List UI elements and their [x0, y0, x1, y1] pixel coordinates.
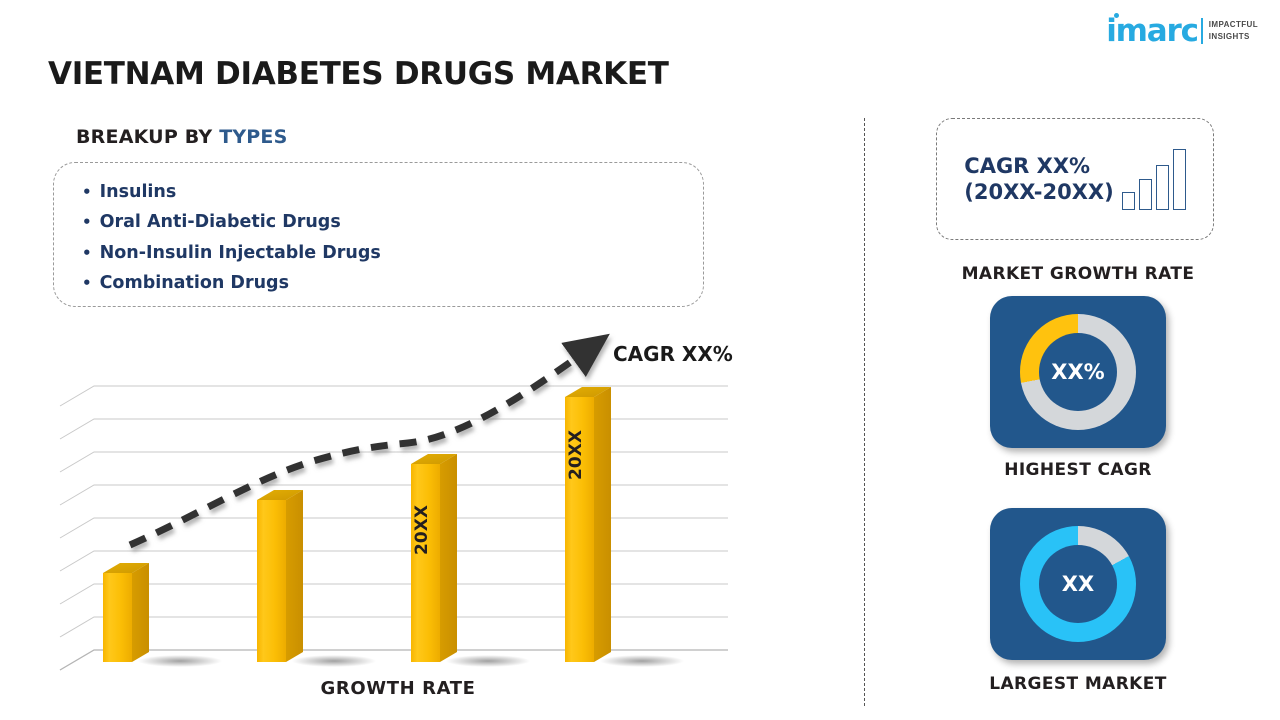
cagr-card-text: CAGR XX% (20XX-20XX): [964, 153, 1113, 206]
chart-bar: 20XX: [565, 387, 611, 662]
list-item: Oral Anti-Diabetic Drugs: [82, 207, 703, 237]
logo-dot-icon: [1114, 13, 1119, 18]
breakup-types-list: Insulins Oral Anti-Diabetic Drugs Non-In…: [54, 163, 703, 298]
logo-divider-bar: [1201, 18, 1203, 44]
slide-canvas: imarc IMPACTFUL INSIGHTS VIETNAM DIABETE…: [0, 0, 1280, 720]
largest-market-card: XX: [990, 508, 1166, 660]
largest-market-caption: LARGEST MARKET: [900, 674, 1256, 694]
chart-bar: [103, 563, 149, 662]
page-title: VIETNAM DIABETES DRUGS MARKET: [48, 56, 669, 92]
imarc-logo: imarc IMPACTFUL INSIGHTS: [1106, 14, 1258, 48]
highest-cagr-card: XX%: [990, 296, 1166, 448]
chart-x-axis-label: GROWTH RATE: [48, 678, 748, 699]
ascending-bars-icon-bar: [1122, 192, 1135, 210]
highest-cagr-donut-hole: XX%: [1039, 333, 1117, 411]
logo-word-text: imarc: [1106, 13, 1198, 49]
logo-tagline-line2: INSIGHTS: [1209, 31, 1258, 43]
largest-market-donut-hole: XX: [1039, 545, 1117, 623]
breakup-heading: BREAKUP BY TYPES: [76, 126, 288, 148]
chart-trend-line: [130, 351, 586, 545]
logo-wordmark: imarc: [1106, 16, 1198, 47]
breakup-types-box: Insulins Oral Anti-Diabetic Drugs Non-In…: [53, 162, 704, 307]
breakup-heading-accent: TYPES: [219, 126, 287, 148]
chart-bar-label: 20XX: [566, 430, 586, 480]
largest-market-donut: XX: [1020, 526, 1136, 642]
cagr-card-line2: (20XX-20XX): [964, 179, 1113, 205]
highest-cagr-caption: HIGHEST CAGR: [900, 460, 1256, 480]
highest-cagr-donut: XX%: [1020, 314, 1136, 430]
market-growth-rate-card: CAGR XX% (20XX-20XX): [936, 118, 1214, 240]
list-item: Combination Drugs: [82, 268, 703, 298]
vertical-divider: [864, 118, 865, 706]
largest-market-value: XX: [1062, 572, 1094, 596]
logo-tagline: IMPACTFUL INSIGHTS: [1209, 19, 1258, 42]
ascending-bars-icon-bar: [1139, 179, 1152, 210]
chart-svg: 20XX 20XX: [48, 330, 748, 675]
logo-tagline-line1: IMPACTFUL: [1209, 19, 1258, 31]
right-panel: CAGR XX% (20XX-20XX) MARKET GROWTH RATE …: [900, 110, 1256, 710]
ascending-bars-icon-bar: [1156, 165, 1169, 210]
ascending-bars-icon-bar: [1173, 149, 1186, 210]
list-item: Insulins: [82, 177, 703, 207]
chart-bar-label: 20XX: [412, 505, 432, 555]
ascending-bars-icon: [1122, 148, 1186, 210]
market-growth-rate-caption: MARKET GROWTH RATE: [900, 264, 1256, 284]
growth-rate-bar-chart: 20XX 20XX CAGR XX% GROWTH RATE: [48, 330, 748, 680]
list-item: Non-Insulin Injectable Drugs: [82, 238, 703, 268]
breakup-heading-label: BREAKUP BY: [76, 126, 212, 148]
chart-cagr-callout: CAGR XX%: [613, 342, 733, 366]
cagr-card-line1: CAGR XX%: [964, 153, 1113, 179]
highest-cagr-value: XX%: [1051, 360, 1104, 384]
chart-bar: 20XX: [411, 454, 457, 662]
chart-bar: [257, 490, 303, 662]
